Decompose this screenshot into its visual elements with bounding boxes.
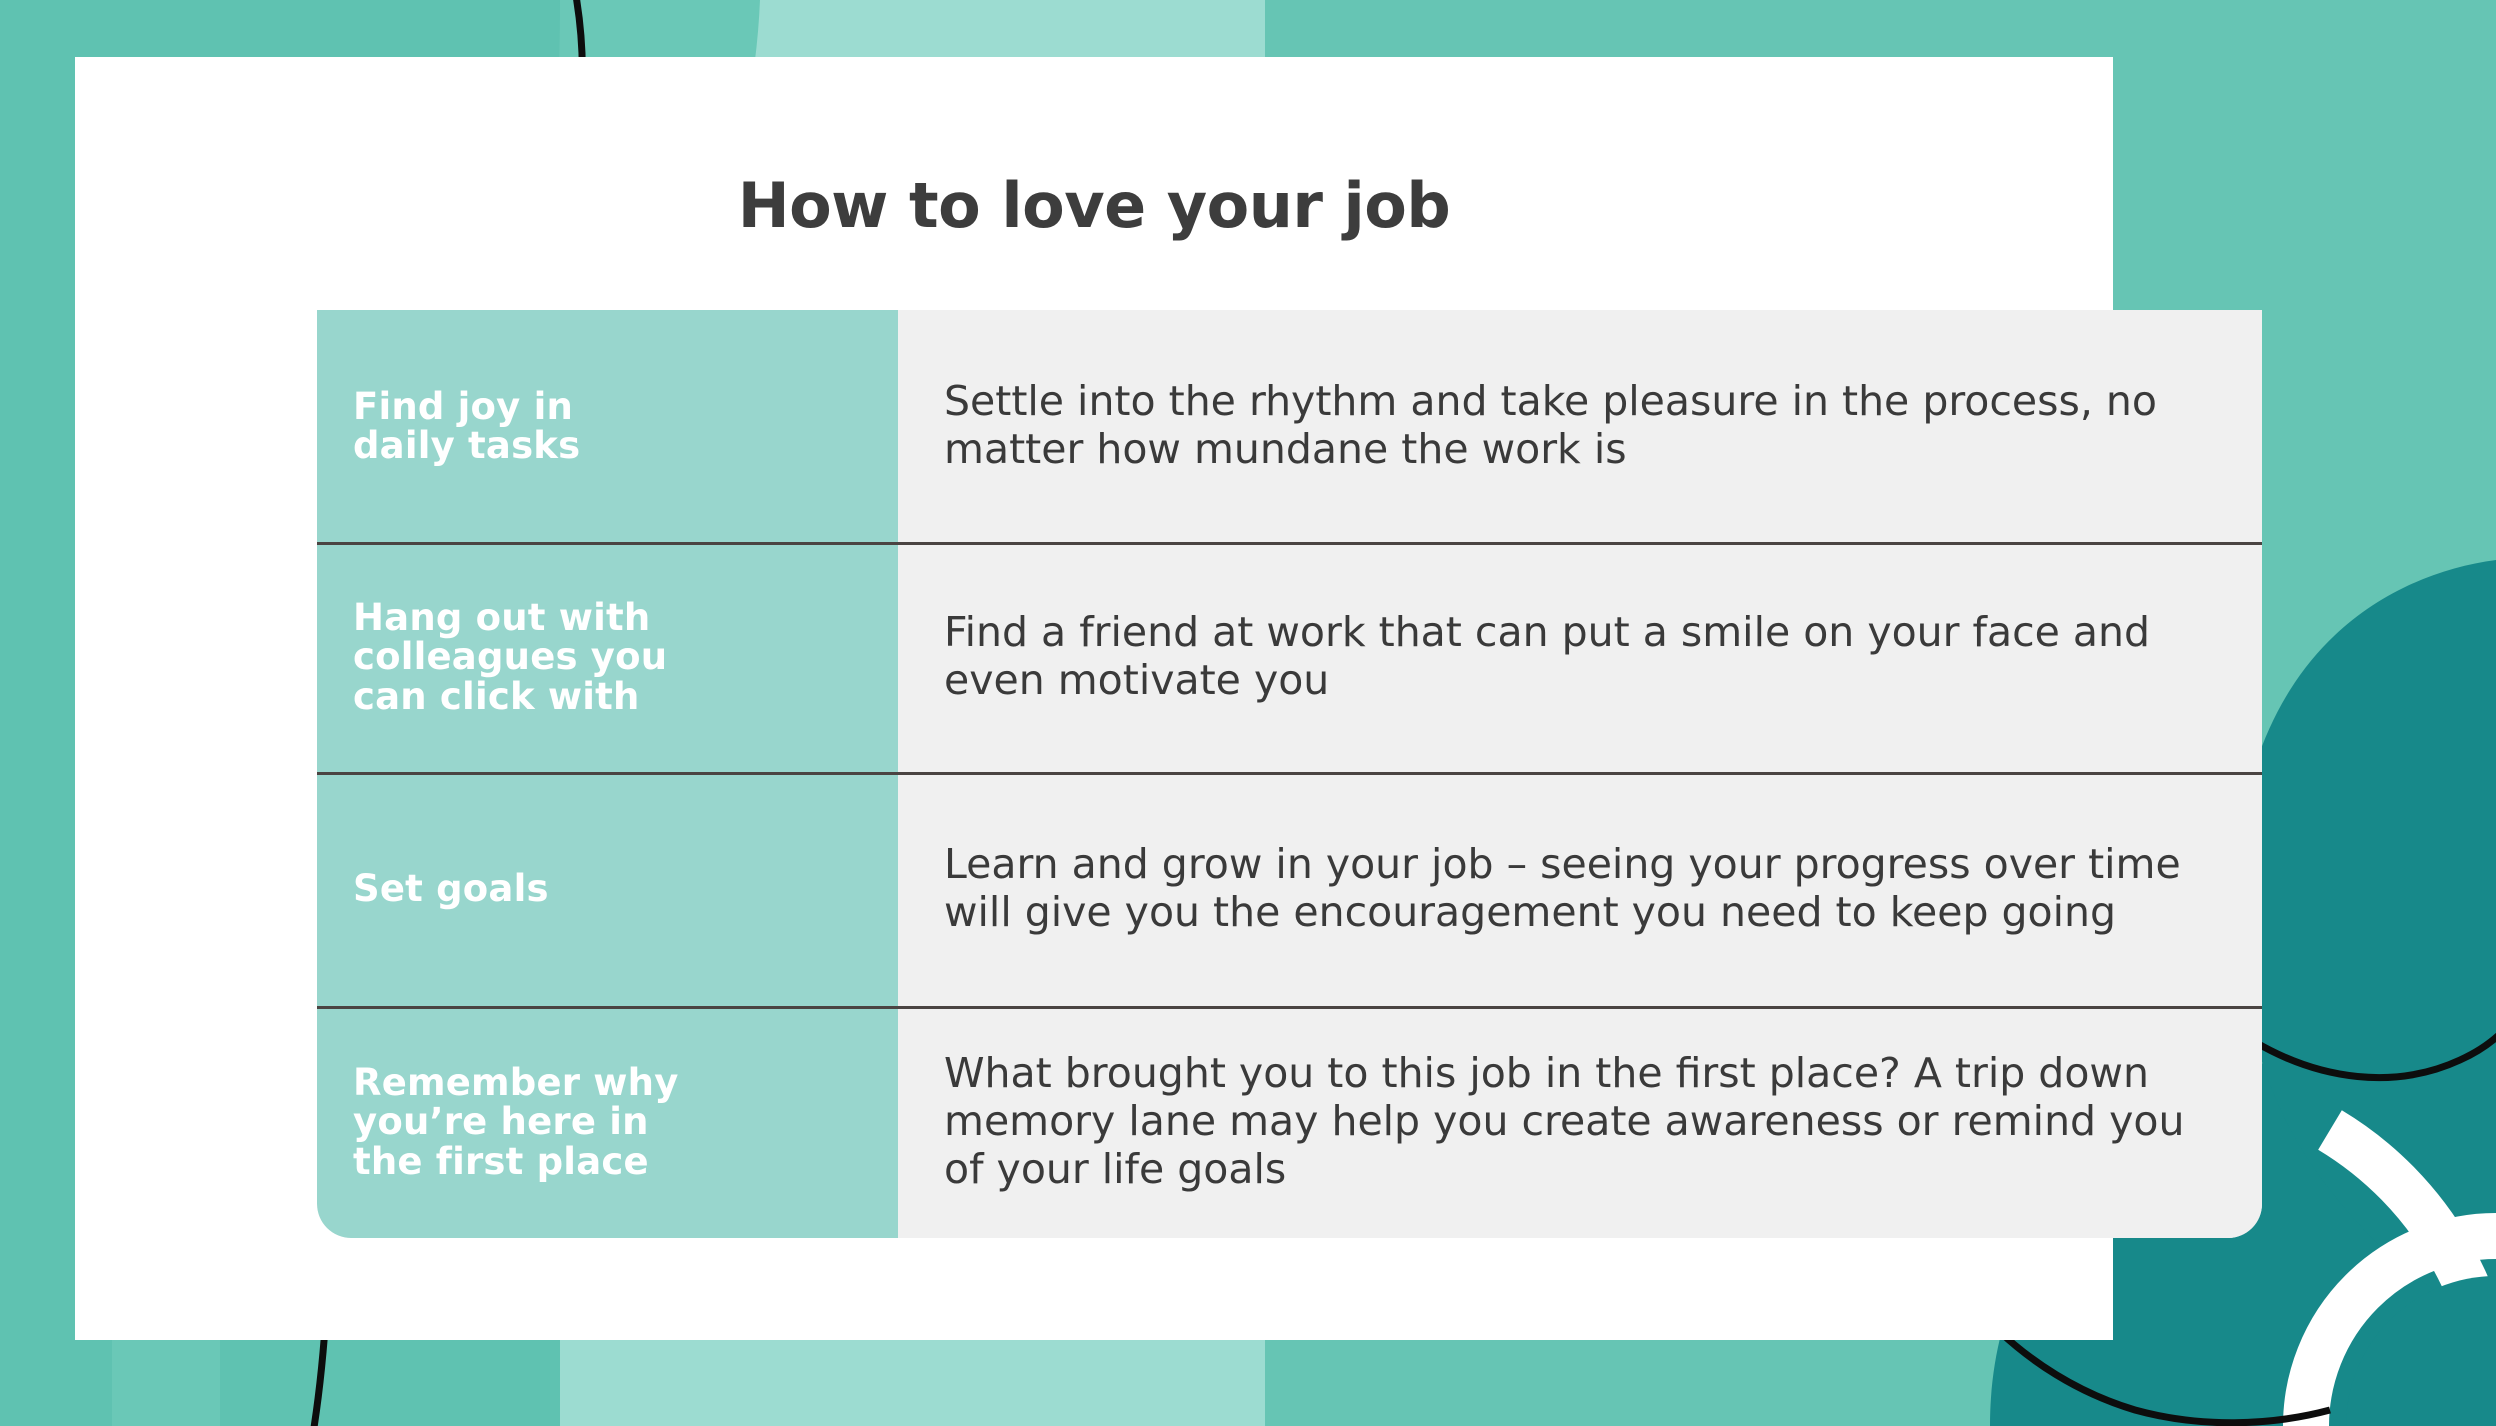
- table-row[interactable]: Remember why you’re here in the first pl…: [317, 1006, 2262, 1238]
- content-card: How to love your job Find joy in daily t…: [75, 57, 2113, 1340]
- slide-root: How to love your job Find joy in daily t…: [0, 0, 2496, 1426]
- table-row-label: Find joy in daily tasks: [353, 387, 580, 465]
- page-title: How to love your job: [75, 169, 2113, 242]
- table-row-description-cell: Learn and grow in your job – seeing your…: [898, 772, 2262, 1006]
- row-divider: [325, 772, 2250, 775]
- row-divider: [325, 542, 2250, 545]
- table-row-description: Settle into the rhythm and take pleasure…: [944, 378, 2232, 474]
- table-row-description-cell: Find a friend at work that can put a smi…: [898, 542, 2262, 772]
- table-row-description: Find a friend at work that can put a smi…: [944, 609, 2232, 705]
- table-row-description-cell: Settle into the rhythm and take pleasure…: [898, 310, 2262, 542]
- table-row[interactable]: Find joy in daily tasks Settle into the …: [317, 310, 2262, 542]
- table-row-label-cell: Find joy in daily tasks: [317, 310, 898, 542]
- tips-table: Find joy in daily tasks Settle into the …: [317, 310, 2262, 1238]
- table-row-label: Hang out with colleagues you can click w…: [353, 598, 667, 716]
- table-row-label: Set goals: [353, 869, 549, 908]
- table-row[interactable]: Set goals Learn and grow in your job – s…: [317, 772, 2262, 1006]
- table-row-label-cell: Hang out with colleagues you can click w…: [317, 542, 898, 772]
- table-row-label: Remember why you’re here in the first pl…: [353, 1063, 679, 1181]
- table-row-label-cell: Set goals: [317, 772, 898, 1006]
- table-row[interactable]: Hang out with colleagues you can click w…: [317, 542, 2262, 772]
- table-row-description: Learn and grow in your job – seeing your…: [944, 841, 2232, 937]
- table-row-description: What brought you to this job in the firs…: [944, 1050, 2232, 1194]
- row-divider: [325, 1006, 2250, 1009]
- table-row-description-cell: What brought you to this job in the firs…: [898, 1006, 2262, 1238]
- table-row-label-cell: Remember why you’re here in the first pl…: [317, 1006, 898, 1238]
